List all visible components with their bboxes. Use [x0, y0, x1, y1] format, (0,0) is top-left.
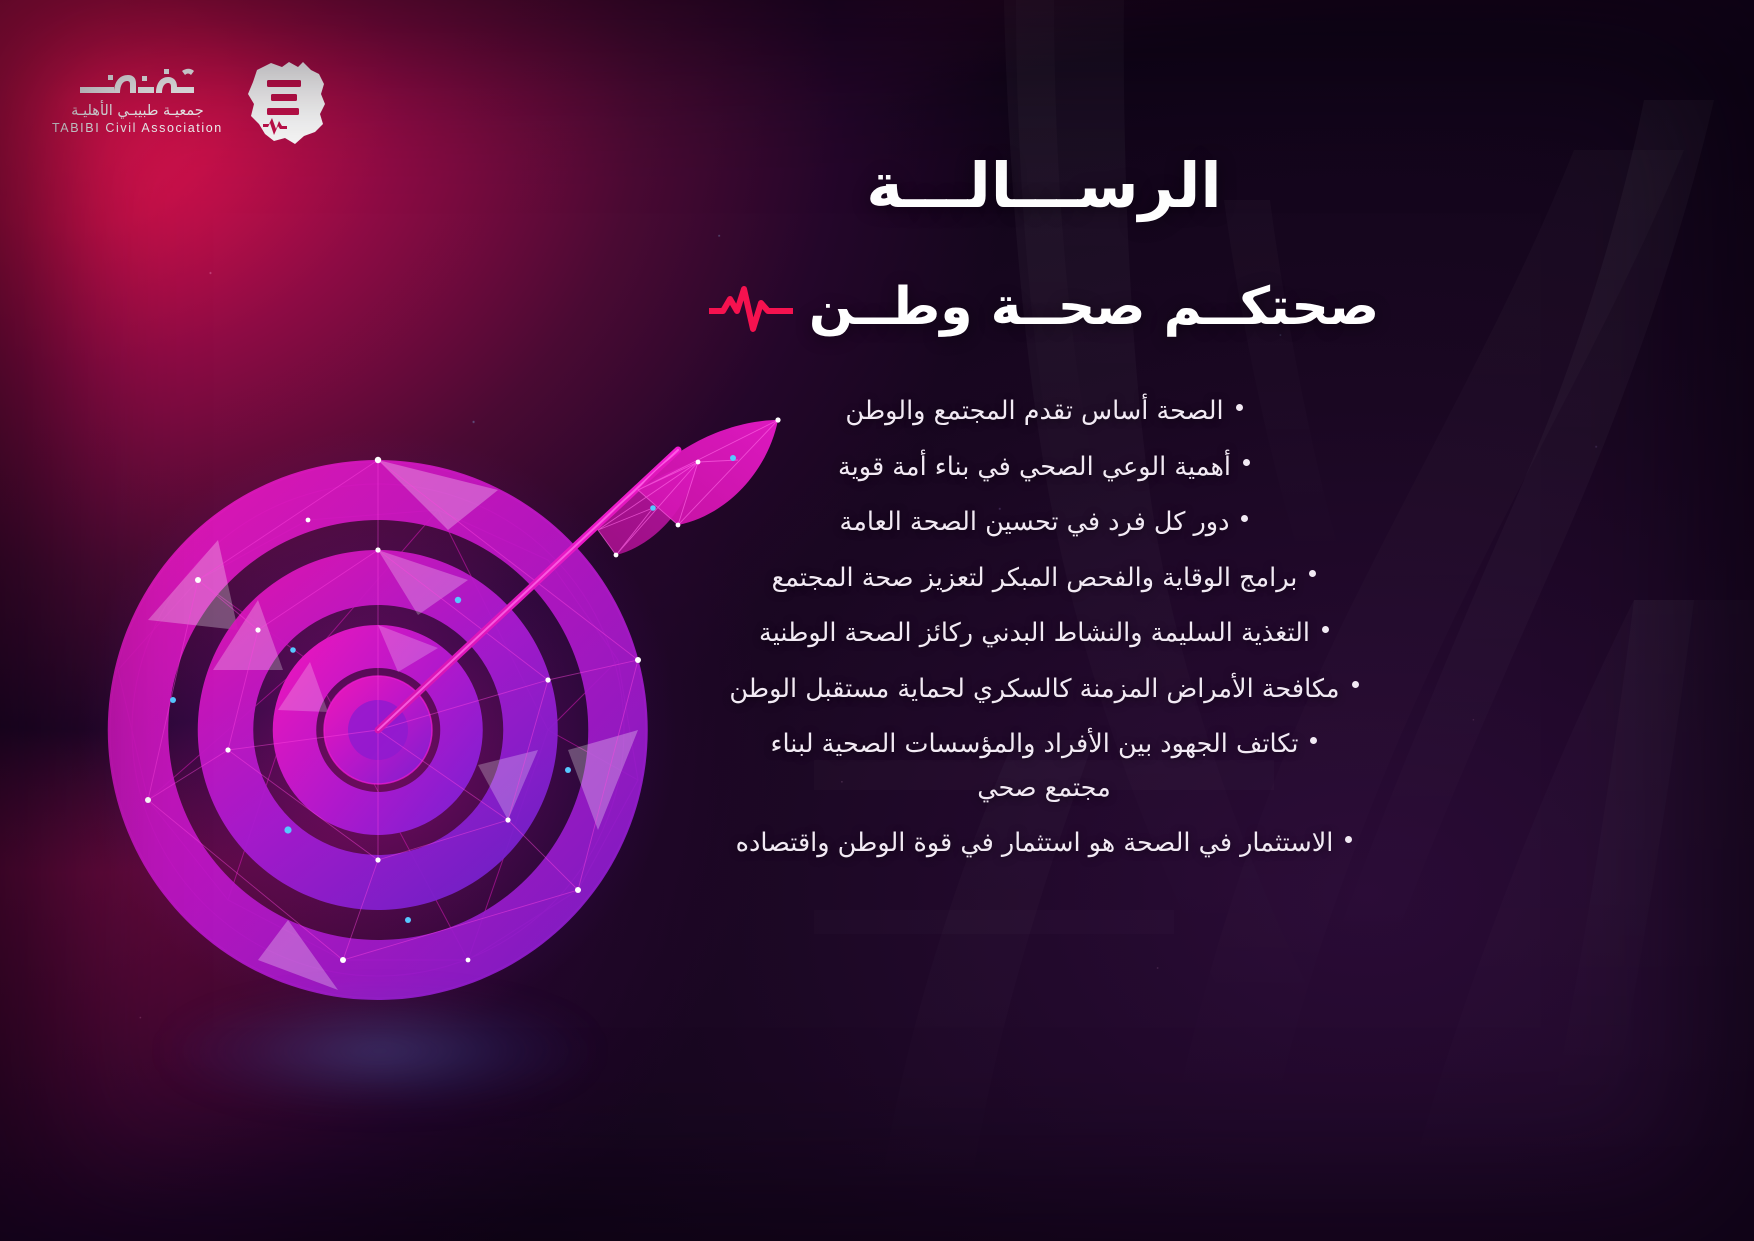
heartbeat-ecg-icon — [709, 281, 793, 333]
saudi-arabia-map-icon — [241, 58, 333, 144]
list-item: الاستثمار في الصحة هو استثمار في قوة الو… — [644, 831, 1444, 857]
list-item-label: تكاتف الجهود بين الأفراد والمؤسسات الصحي… — [771, 729, 1299, 759]
list-item-label: الصحة أساس تقدم المجتمع والوطن — [845, 396, 1223, 426]
brand-logo[interactable]: جمعيـة طبيبـي الأهليـة TABIBI Civil Asso… — [52, 58, 333, 144]
bullet-dot-icon — [1309, 570, 1316, 577]
list-item-label: برامج الوقاية والفحص المبكر لتعزيز صحة ا… — [772, 563, 1298, 593]
content-column: الرســـالـــة صحتكــم صحــة وطــن الصحة … — [484, 150, 1604, 887]
list-item: تكاتف الجهود بين الأفراد والمؤسسات الصحي… — [644, 732, 1444, 758]
list-item-label: الاستثمار في الصحة هو استثمار في قوة الو… — [736, 828, 1334, 858]
message-bullet-list: الصحة أساس تقدم المجتمع والوطنأهمية الوع… — [484, 399, 1604, 857]
bullet-dot-icon — [1352, 681, 1359, 688]
list-item-label: مجتمع صحي — [977, 773, 1111, 803]
bullet-dot-icon — [1243, 459, 1250, 466]
list-item-label: أهمية الوعي الصحي في بناء أمة قوية — [838, 452, 1231, 482]
poster-canvas: جمعيـة طبيبـي الأهليـة TABIBI Civil Asso… — [0, 0, 1754, 1241]
list-item: أهمية الوعي الصحي في بناء أمة قوية — [644, 455, 1444, 481]
list-item: دور كل فرد في تحسين الصحة العامة — [644, 510, 1444, 536]
list-item-label: التغذية السليمة والنشاط البدني ركائز الص… — [759, 618, 1310, 648]
list-item: مجتمع صحي — [644, 776, 1444, 802]
hero-subtitle: صحتكــم صحــة وطــن — [809, 277, 1379, 337]
page-title: الرســـالـــة — [484, 150, 1604, 221]
tabibi-arabic-wordmark-icon — [78, 67, 196, 101]
list-item: مكافحة الأمراض المزمنة كالسكري لحماية مس… — [644, 677, 1444, 703]
bullet-dot-icon — [1241, 515, 1248, 522]
bullet-dot-icon — [1310, 737, 1317, 744]
hero-subtitle-row: صحتكــم صحــة وطــن — [484, 277, 1604, 337]
bullet-dot-icon — [1322, 626, 1329, 633]
brand-name-ar: جمعيـة طبيبـي الأهليـة — [71, 103, 204, 119]
bullet-dot-icon — [1345, 836, 1352, 843]
list-item: الصحة أساس تقدم المجتمع والوطن — [644, 399, 1444, 425]
list-item-label: دور كل فرد في تحسين الصحة العامة — [840, 507, 1230, 537]
list-item-label: مكافحة الأمراض المزمنة كالسكري لحماية مس… — [729, 674, 1339, 704]
list-item: برامج الوقاية والفحص المبكر لتعزيز صحة ا… — [644, 566, 1444, 592]
list-item: التغذية السليمة والنشاط البدني ركائز الص… — [644, 621, 1444, 647]
bullet-dot-icon — [1236, 404, 1243, 411]
brand-name-en: TABIBI Civil Association — [52, 121, 223, 135]
